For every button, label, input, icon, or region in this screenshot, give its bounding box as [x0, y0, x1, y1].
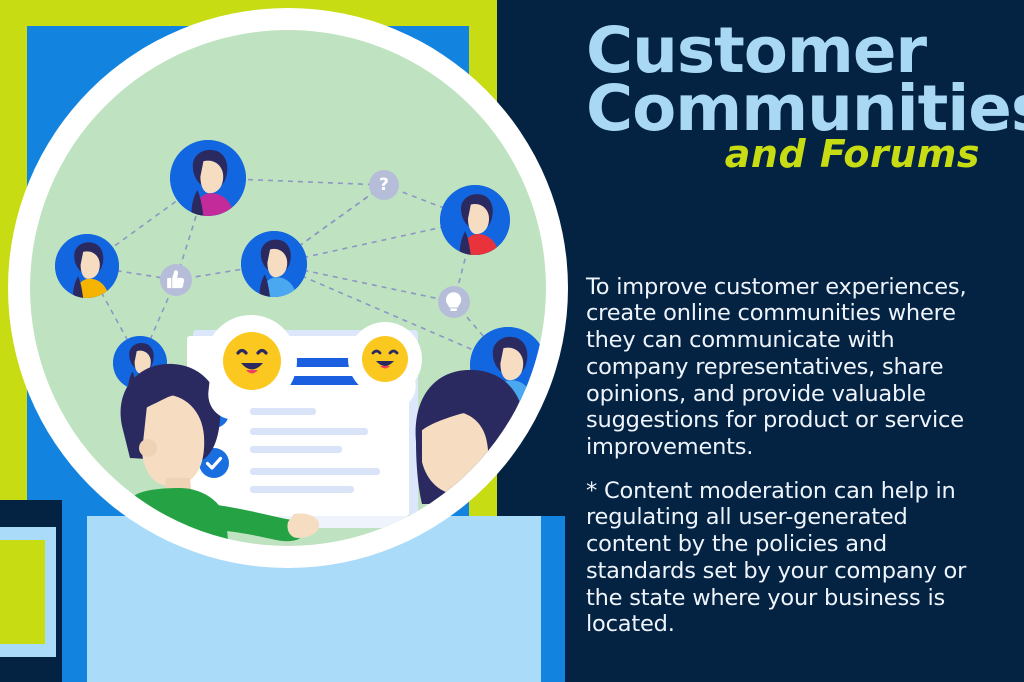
swatch-lime-square [0, 540, 45, 644]
avatar-bearded-man-icon [170, 140, 246, 216]
badge-question[interactable]: ? [369, 170, 399, 200]
smiling-face-icon-right [362, 336, 408, 382]
smiley-face-glyph [362, 336, 408, 382]
page-title: Customer Communities [586, 22, 1006, 138]
avatar-person-icon [55, 234, 119, 298]
thumbs-up-icon [162, 266, 189, 293]
badge-thumbs-up[interactable] [160, 264, 192, 296]
smiling-face-icon-left [223, 332, 281, 390]
avatar-dark-skin-person[interactable] [55, 234, 119, 298]
avatar-woman-icon [241, 231, 307, 297]
avatar-bearded-man[interactable] [170, 140, 246, 216]
headline-block: Customer Communities and Forums [586, 22, 998, 176]
paragraph-2: * Content moderation can help in regulat… [586, 478, 991, 639]
avatar-blue-top-woman[interactable] [241, 231, 307, 297]
avatar-man-icon [440, 185, 510, 255]
infographic-canvas: ? [0, 0, 1024, 682]
smiley-face-glyph [223, 332, 281, 390]
badge-lightbulb[interactable] [438, 286, 470, 318]
lightbulb-icon [440, 288, 467, 315]
illustration-green-circle: ? [30, 30, 546, 546]
avatar-red-shirt-man[interactable] [440, 185, 510, 255]
paragraph-1: To improve customer experiences, create … [586, 274, 991, 461]
title-line-2: Communities [586, 80, 1006, 138]
